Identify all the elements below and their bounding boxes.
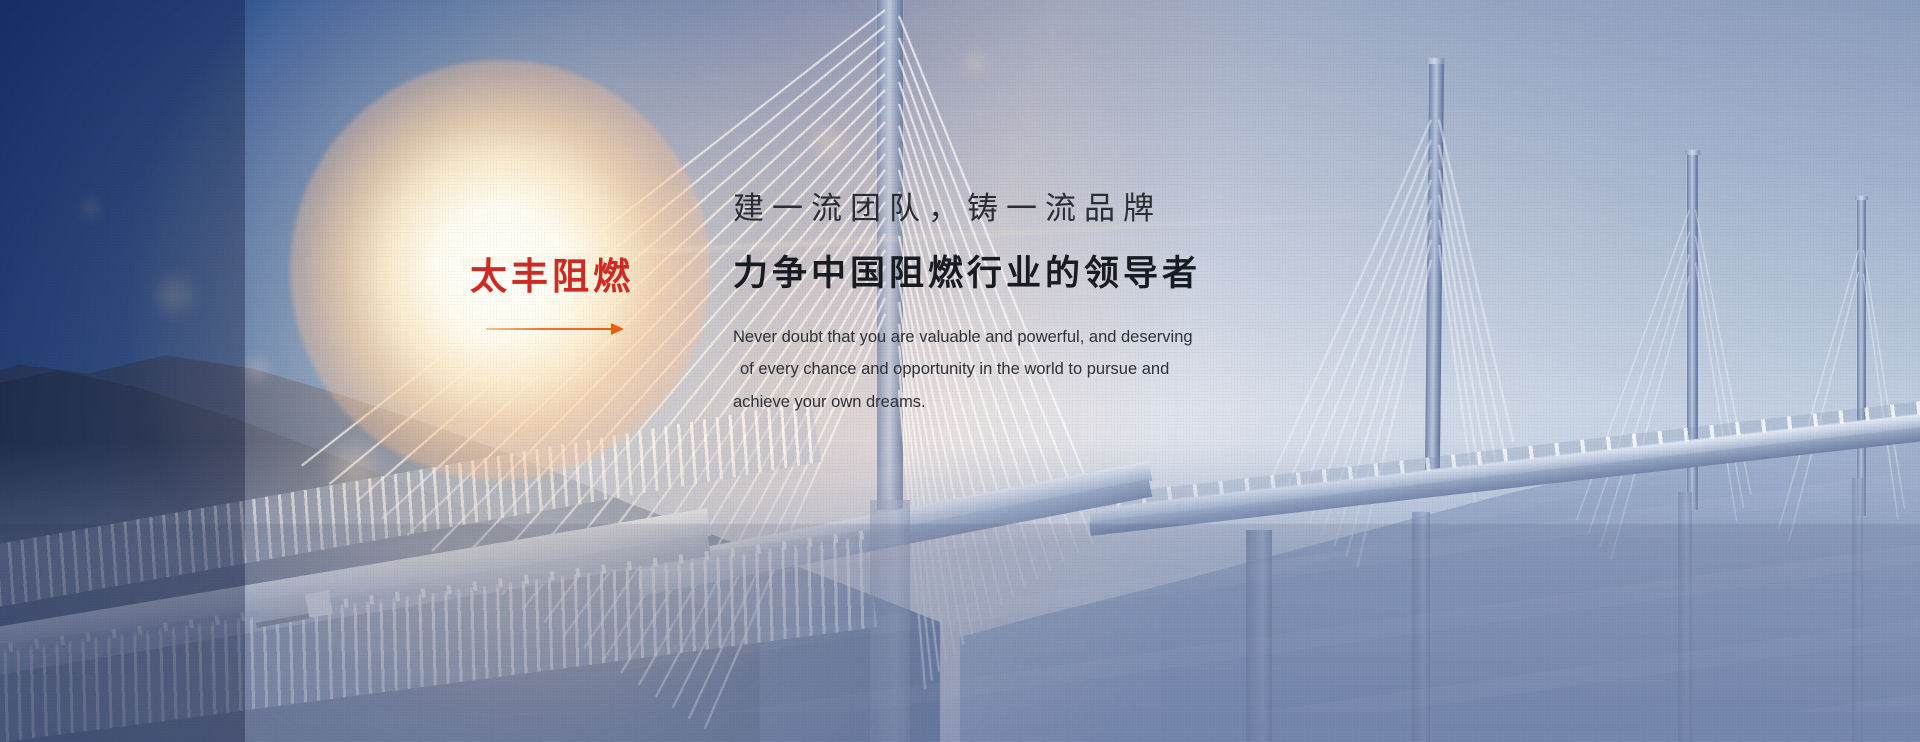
hero-banner: 太丰阻燃 建一流团队，铸一流品牌 力争中国阻燃行业的领导者 Never doub… — [0, 0, 1920, 742]
arrow-shaft — [486, 328, 612, 330]
hero-copy: 建一流团队，铸一流品牌 力争中国阻燃行业的领导者 Never doubt tha… — [733, 190, 1373, 418]
arrow-right-icon — [486, 323, 624, 335]
brand-logo[interactable]: 太丰阻燃 — [470, 258, 660, 335]
subcopy-paragraph: Never doubt that you are valuable and po… — [733, 321, 1308, 418]
arrow-head — [611, 323, 624, 335]
brand-logo-text: 太丰阻燃 — [470, 258, 660, 295]
headline-secondary: 力争中国阻燃行业的领导者 — [733, 253, 1373, 295]
headline-primary: 建一流团队，铸一流品牌 — [733, 190, 1373, 227]
subcopy-line-3: achieve your own dreams. — [733, 386, 1308, 418]
banner-content: 太丰阻燃 建一流团队，铸一流品牌 力争中国阻燃行业的领导者 Never doub… — [0, 0, 1920, 742]
subcopy-line-1: Never doubt that you are valuable and po… — [733, 321, 1308, 353]
subcopy-line-2: of every chance and opportunity in the w… — [733, 353, 1308, 385]
